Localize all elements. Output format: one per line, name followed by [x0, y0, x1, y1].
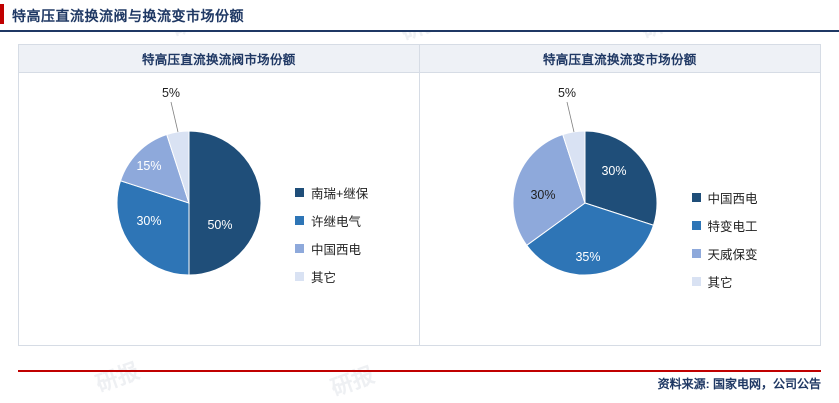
title-accent-bar: [0, 4, 4, 24]
legend-swatch-icon: [692, 249, 701, 258]
legend-swatch-icon: [295, 244, 304, 253]
pie-slice-value: 5%: [557, 86, 575, 100]
pie-slice-value: 15%: [136, 159, 161, 173]
footer: 资料来源: 国家电网，公司公告: [18, 370, 821, 392]
chart-panel-header: 特高压直流换流变市场份额: [420, 45, 821, 73]
legend-swatch-icon: [295, 216, 304, 225]
pie-slice-value: 35%: [575, 250, 600, 264]
legend-label: 特变电工: [708, 216, 758, 235]
footer-divider: [18, 370, 821, 372]
title-bar: 特高压直流换流阀与换流变市场份额: [0, 0, 839, 32]
legend-item[interactable]: 特变电工: [692, 211, 758, 239]
legend-swatch-icon: [692, 221, 701, 230]
pie-slice-value: 30%: [136, 214, 161, 228]
leader-line: [171, 102, 178, 132]
legend-item[interactable]: 许继电气: [295, 206, 368, 234]
pie-slice-value: 30%: [530, 188, 555, 202]
page-title: 特高压直流换流阀与换流变市场份额: [12, 6, 244, 26]
legend-swatch-icon: [295, 272, 304, 281]
legend-label: 其它: [708, 272, 733, 291]
chart-title: 特高压直流换流阀市场份额: [142, 49, 296, 68]
pie-chart-valve: 50% 30% 15% 5%: [89, 103, 289, 303]
pie-slice: [189, 131, 261, 275]
chart-panel-transformer: 特高压直流换流变市场份额 30%: [420, 45, 821, 345]
legend-item[interactable]: 中国西电: [295, 234, 368, 262]
legend-label: 中国西电: [708, 188, 758, 207]
chart-area-valve: 50% 30% 15% 5% 南瑞+继保: [19, 73, 419, 346]
pie-slice-value: 30%: [601, 164, 626, 178]
legend-label: 天威保变: [708, 244, 758, 263]
legend-label: 许继电气: [311, 211, 361, 230]
legend-label: 南瑞+继保: [311, 183, 368, 202]
legend-item[interactable]: 其它: [295, 262, 368, 290]
legend-swatch-icon: [692, 277, 701, 286]
legend-item[interactable]: 天威保变: [692, 239, 758, 267]
chart-page: 研报 研报 研报 研报 研报 特高压直流换流阀与换流变市场份额 特高压直流换流阀…: [0, 0, 839, 403]
source-note: 资料来源: 国家电网，公司公告: [658, 375, 821, 392]
chart-panel-valve: 特高压直流换流阀市场份额 50%: [19, 45, 420, 345]
legend-swatch-icon: [295, 188, 304, 197]
legend-label: 其它: [311, 267, 336, 286]
legend-label: 中国西电: [311, 239, 361, 258]
pie-chart-transformer: 30% 35% 30% 5%: [485, 103, 685, 303]
chart-legend-transformer: 中国西电 特变电工 天威保变 其它: [692, 183, 758, 295]
chart-legend-valve: 南瑞+继保 许继电气 中国西电 其它: [295, 178, 368, 290]
legend-item[interactable]: 南瑞+继保: [295, 178, 368, 206]
legend-item[interactable]: 其它: [692, 267, 758, 295]
pie-slice-value: 50%: [207, 218, 232, 232]
chart-area-transformer: 30% 35% 30% 5% 中国西电: [420, 73, 821, 346]
charts-container: 特高压直流换流阀市场份额 50%: [18, 44, 821, 346]
leader-line: [567, 102, 574, 132]
pie-slice-value: 5%: [162, 86, 180, 100]
chart-title: 特高压直流换流变市场份额: [543, 49, 697, 68]
legend-item[interactable]: 中国西电: [692, 183, 758, 211]
legend-swatch-icon: [692, 193, 701, 202]
chart-panel-header: 特高压直流换流阀市场份额: [19, 45, 419, 73]
